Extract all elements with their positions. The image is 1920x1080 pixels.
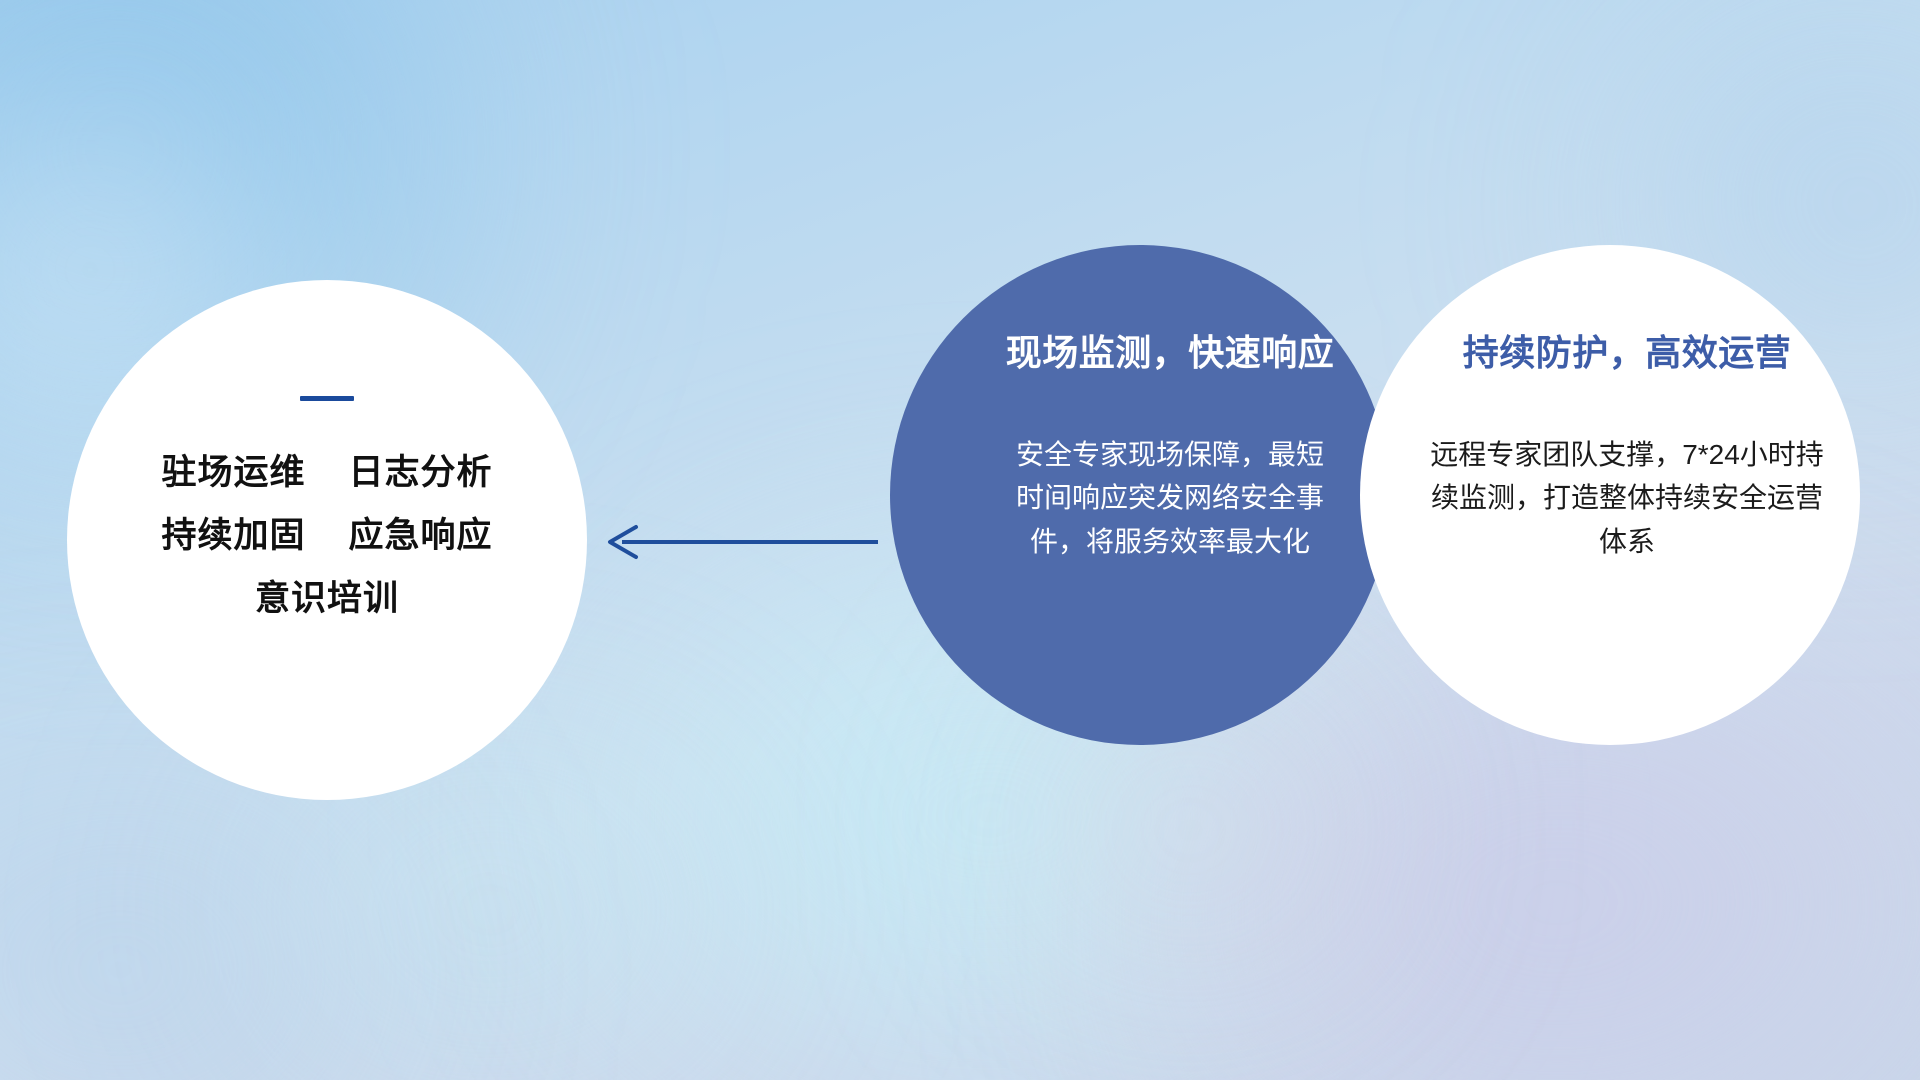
onsite-monitoring-circle[interactable]: 现场监测，快速响应 安全专家现场保障，最短时间响应突发网络安全事件，将服务效率最… xyxy=(890,245,1390,745)
flow-arrow-icon xyxy=(600,515,880,569)
continuous-protection-body: 远程专家团队支撑，7*24小时持续监测，打造整体持续安全运营体系 xyxy=(1427,433,1827,563)
capability-line-2: 持续加固 应急响应 xyxy=(162,518,493,553)
capability-line-3: 意识培训 xyxy=(255,581,399,616)
capability-list: 驻场运维 日志分析 持续加固 应急响应 意识培训 xyxy=(162,455,493,616)
continuous-protection-title: 持续防护，高效运营 xyxy=(1463,335,1792,371)
divider-dash-icon xyxy=(300,396,354,401)
onsite-monitoring-title: 现场监测，快速响应 xyxy=(1006,335,1335,371)
capability-line-1: 驻场运维 日志分析 xyxy=(162,455,493,490)
continuous-protection-circle[interactable]: 持续防护，高效运营 远程专家团队支撑，7*24小时持续监测，打造整体持续安全运营… xyxy=(1360,245,1860,745)
service-capabilities-circle[interactable]: 驻场运维 日志分析 持续加固 应急响应 意识培训 xyxy=(67,280,587,800)
slide-canvas: 驻场运维 日志分析 持续加固 应急响应 意识培训 现场监测，快速响应 安全专家现… xyxy=(0,0,1920,1080)
onsite-monitoring-body: 安全专家现场保障，最短时间响应突发网络安全事件，将服务效率最大化 xyxy=(1005,433,1335,563)
